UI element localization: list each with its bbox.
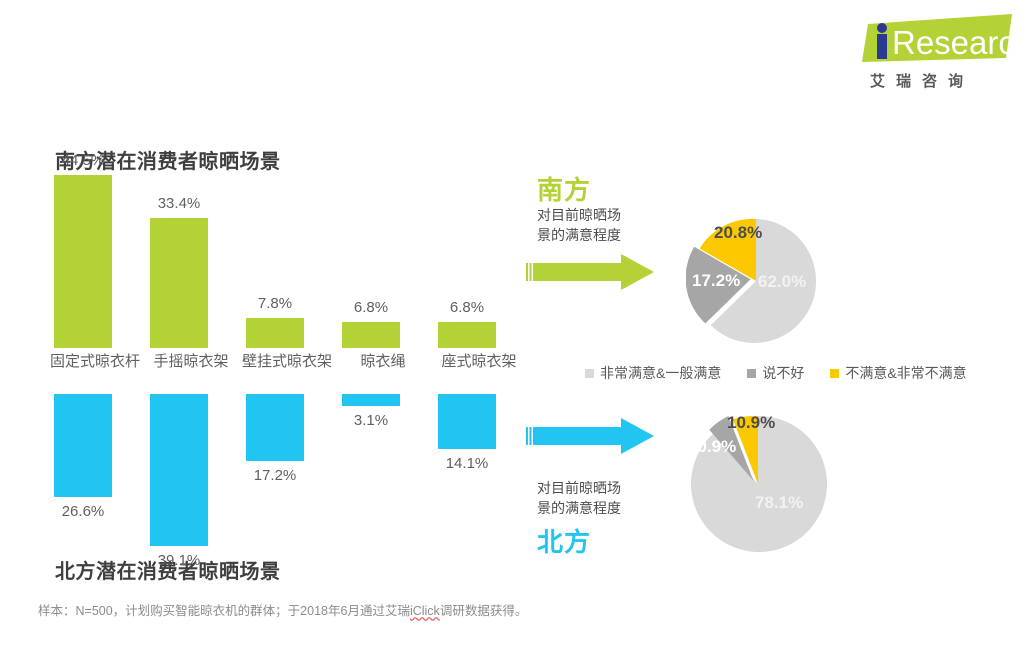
legend-swatch-icon bbox=[830, 369, 839, 378]
north-arrow-icon bbox=[526, 416, 656, 456]
iresearch-logo-mark: Research bbox=[862, 14, 1012, 66]
bar-up-wrapper: 7.8% bbox=[242, 175, 332, 348]
iresearch-logo: Research 艾瑞咨询 bbox=[862, 14, 1012, 92]
bar-south-2[interactable] bbox=[246, 318, 304, 348]
bar-south-3[interactable] bbox=[342, 322, 400, 348]
bar-up-wrapper: 44.5% bbox=[50, 175, 140, 348]
south-arrow-icon bbox=[526, 252, 656, 292]
bar-south-1[interactable] bbox=[150, 218, 208, 348]
bar-value-south-1: 33.4% bbox=[150, 195, 208, 212]
footnote-suffix: 调研数据获得。 bbox=[440, 604, 528, 618]
bar-north-3[interactable] bbox=[342, 394, 400, 406]
south-region-label: 南方 bbox=[537, 170, 591, 207]
legend-swatch-icon bbox=[585, 369, 594, 378]
bar-up-wrapper: 33.4% bbox=[146, 175, 236, 348]
bar-category-label-2: 壁挂式晾衣架 bbox=[236, 350, 338, 371]
bar-down-wrapper: 26.6% bbox=[50, 394, 140, 544]
bar-category-label-3: 晾衣绳 bbox=[332, 350, 434, 371]
north-pie-value-satisfied: 78.1% bbox=[755, 493, 803, 513]
legend-item-1[interactable]: 说不好 bbox=[747, 363, 804, 383]
logo-subtitle: 艾瑞咨询 bbox=[870, 70, 1008, 91]
legend-label: 说不好 bbox=[762, 363, 804, 383]
bar-down-wrapper: 3.1% bbox=[338, 394, 428, 544]
bar-up-wrapper: 6.8% bbox=[338, 175, 428, 348]
bar-value-north-3: 3.1% bbox=[342, 412, 400, 429]
satisfaction-legend: 非常满意&一般满意说不好不满意&非常不满意 bbox=[585, 363, 967, 383]
bar-down-wrapper: 14.1% bbox=[434, 394, 524, 544]
legend-label: 不满意&非常不满意 bbox=[845, 363, 966, 383]
svg-text:Research: Research bbox=[892, 24, 1012, 61]
bar-south-0[interactable] bbox=[54, 175, 112, 348]
bar-value-south-3: 6.8% bbox=[342, 299, 400, 316]
bar-value-south-0: 44.5% bbox=[54, 152, 112, 169]
legend-swatch-icon bbox=[747, 369, 756, 378]
bar-category-label-1: 手摇晾衣架 bbox=[140, 350, 242, 371]
bar-value-south-2: 7.8% bbox=[246, 295, 304, 312]
bar-down-wrapper: 17.2% bbox=[242, 394, 332, 544]
bar-value-north-2: 17.2% bbox=[246, 467, 304, 484]
bar-north-0[interactable] bbox=[54, 394, 112, 497]
south-arrow-caption: 对目前晾晒场 景的满意程度 bbox=[537, 205, 667, 245]
bar-category-label-4: 座式晾衣架 bbox=[428, 350, 530, 371]
south-pie-value-dissatisfied: 20.8% bbox=[714, 223, 762, 243]
bar-down-wrapper: 39.1% bbox=[146, 394, 236, 544]
bar-value-north-0: 26.6% bbox=[54, 503, 112, 520]
bar-category-label-0: 固定式晾衣杆 bbox=[44, 350, 146, 371]
bar-value-north-1: 39.1% bbox=[150, 552, 208, 569]
south-pie-value-neutral: 17.2% bbox=[692, 271, 740, 291]
bar-north-1[interactable] bbox=[150, 394, 208, 546]
legend-label: 非常满意&一般满意 bbox=[600, 363, 721, 383]
north-region-label: 北方 bbox=[537, 522, 591, 559]
bar-value-north-4: 14.1% bbox=[438, 455, 496, 472]
north-pie-value-neutral: 10.9% bbox=[688, 437, 736, 457]
north-pie-value-dissatisfied: 10.9% bbox=[727, 413, 775, 433]
footnote-prefix: 样本：N=500，计划购买智能晾衣机的群体；于2018年6月通过艾瑞 bbox=[38, 604, 410, 618]
bar-value-south-4: 6.8% bbox=[438, 299, 496, 316]
north-arrow-caption: 对目前晾晒场 景的满意程度 bbox=[537, 478, 667, 518]
legend-item-0[interactable]: 非常满意&一般满意 bbox=[585, 363, 721, 383]
south-pie-value-satisfied: 62.0% bbox=[758, 272, 806, 292]
bar-up-wrapper: 6.8% bbox=[434, 175, 524, 348]
bar-north-4[interactable] bbox=[438, 394, 496, 449]
bar-north-2[interactable] bbox=[246, 394, 304, 461]
legend-item-2[interactable]: 不满意&非常不满意 bbox=[830, 363, 966, 383]
footnote-highlight: iClick bbox=[410, 604, 440, 618]
bar-south-4[interactable] bbox=[438, 322, 496, 348]
paired-bar-chart: 44.5%固定式晾衣杆26.6%33.4%手摇晾衣架39.1%7.8%壁挂式晾衣… bbox=[40, 175, 520, 545]
footnote: 样本：N=500，计划购买智能晾衣机的群体；于2018年6月通过艾瑞iClick… bbox=[38, 600, 527, 619]
